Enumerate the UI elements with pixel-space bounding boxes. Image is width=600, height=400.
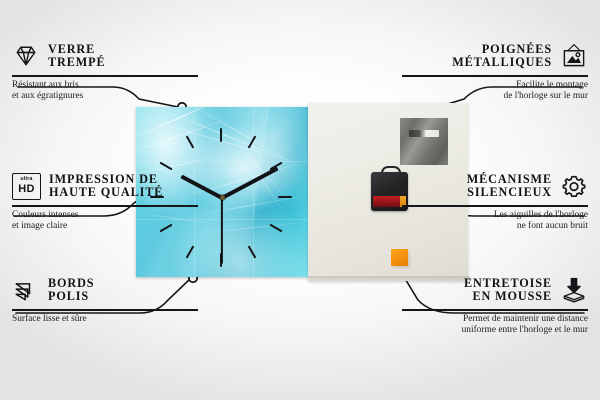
clock-tick [278, 196, 292, 198]
feature-description: Couleurs intenses et image claire [12, 210, 198, 233]
infographic-canvas: VERRE TREMPÉ Résistant aux bris et aux é… [0, 0, 600, 400]
feature-poignees-metalliques: POIGNÉES MÉTALLIQUES Facilite le montage… [402, 38, 588, 103]
feature-title: POIGNÉES MÉTALLIQUES [452, 43, 552, 70]
clock-center-pivot [220, 195, 225, 200]
diagonal-lines-icon [12, 276, 40, 304]
hanging-picture-frame-icon [560, 42, 588, 70]
clock-second-hand [221, 198, 223, 264]
arrow-onto-foam-pad-icon [560, 276, 588, 304]
feature-title: VERRE TREMPÉ [48, 43, 106, 70]
clock-tick [220, 128, 222, 142]
feature-heading: VERRE TREMPÉ [12, 38, 198, 74]
feature-title: ENTRETOISE EN MOUSSE [464, 277, 552, 304]
feature-description: Résistant aux bris et aux égratignures [12, 80, 198, 103]
feature-verre-trempe: VERRE TREMPÉ Résistant aux bris et aux é… [12, 38, 198, 103]
feature-heading: ENTRETOISE EN MOUSSE [402, 272, 588, 308]
feature-divider [402, 309, 588, 311]
feature-divider [12, 205, 198, 207]
feature-divider [12, 75, 198, 77]
foam-spacer [391, 249, 408, 266]
hanger-slot [409, 130, 439, 137]
feature-bords-polis: BORDS POLIS Surface lisse et sûre [12, 272, 198, 325]
feature-description: Facilite le montage de l'horloge sur le … [402, 80, 588, 103]
feature-impression-haute-qualite: ultra HD IMPRESSION DE HAUTE QUALITÉ Cou… [12, 168, 198, 233]
feature-mecanisme-silencieux: MÉCANISME SILENCIEUX Les aiguilles de l'… [402, 168, 588, 233]
feature-description: Permet de maintenir une distance uniform… [402, 314, 588, 337]
feature-heading: POIGNÉES MÉTALLIQUES [402, 38, 588, 74]
feature-description: Les aiguilles de l'horloge ne font aucun… [402, 210, 588, 233]
feature-heading: BORDS POLIS [12, 272, 198, 308]
feature-divider [402, 205, 588, 207]
feature-heading: MÉCANISME SILENCIEUX [402, 168, 588, 204]
feature-description: Surface lisse et sûre [12, 314, 198, 326]
feature-divider [402, 75, 588, 77]
ultra-hd-badge-icon: ultra HD [12, 173, 41, 200]
feature-entretoise-en-mousse: ENTRETOISE EN MOUSSE Permet de maintenir… [402, 272, 588, 337]
feature-heading: ultra HD IMPRESSION DE HAUTE QUALITÉ [12, 168, 198, 204]
feature-title: BORDS POLIS [48, 277, 95, 304]
feature-divider [12, 309, 198, 311]
metal-hanger-plate [400, 118, 448, 165]
feature-title: MÉCANISME SILENCIEUX [467, 173, 552, 200]
feature-title: IMPRESSION DE HAUTE QUALITÉ [49, 173, 163, 200]
gear-icon [560, 172, 588, 200]
diamond-icon [12, 42, 40, 70]
